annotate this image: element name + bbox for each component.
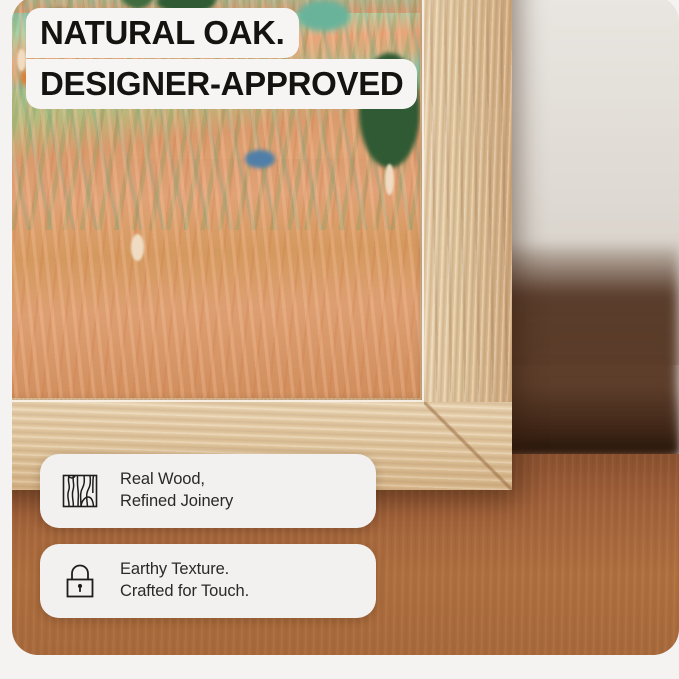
headline-line-1: NATURAL OAK.: [26, 8, 299, 58]
headline: NATURAL OAK. DESIGNER-APPROVED: [26, 8, 679, 109]
wood-grain-icon: [58, 469, 102, 513]
product-feature-image: NATURAL OAK. DESIGNER-APPROVED: [0, 0, 679, 679]
feature-card-label: Earthy Texture. Crafted for Touch.: [120, 559, 249, 603]
product-photo: NATURAL OAK. DESIGNER-APPROVED: [12, 0, 679, 655]
headline-line-2: DESIGNER-APPROVED: [26, 59, 417, 109]
feature-card-earthy-texture: Earthy Texture. Crafted for Touch.: [40, 544, 376, 618]
feature-card-real-wood: Real Wood, Refined Joinery: [40, 454, 376, 528]
lock-icon: [58, 559, 102, 603]
frame-mitre-joint: [424, 402, 512, 490]
feature-card-list: Real Wood, Refined Joinery Earthy Textur…: [40, 454, 376, 618]
feature-card-label: Real Wood, Refined Joinery: [120, 469, 233, 513]
